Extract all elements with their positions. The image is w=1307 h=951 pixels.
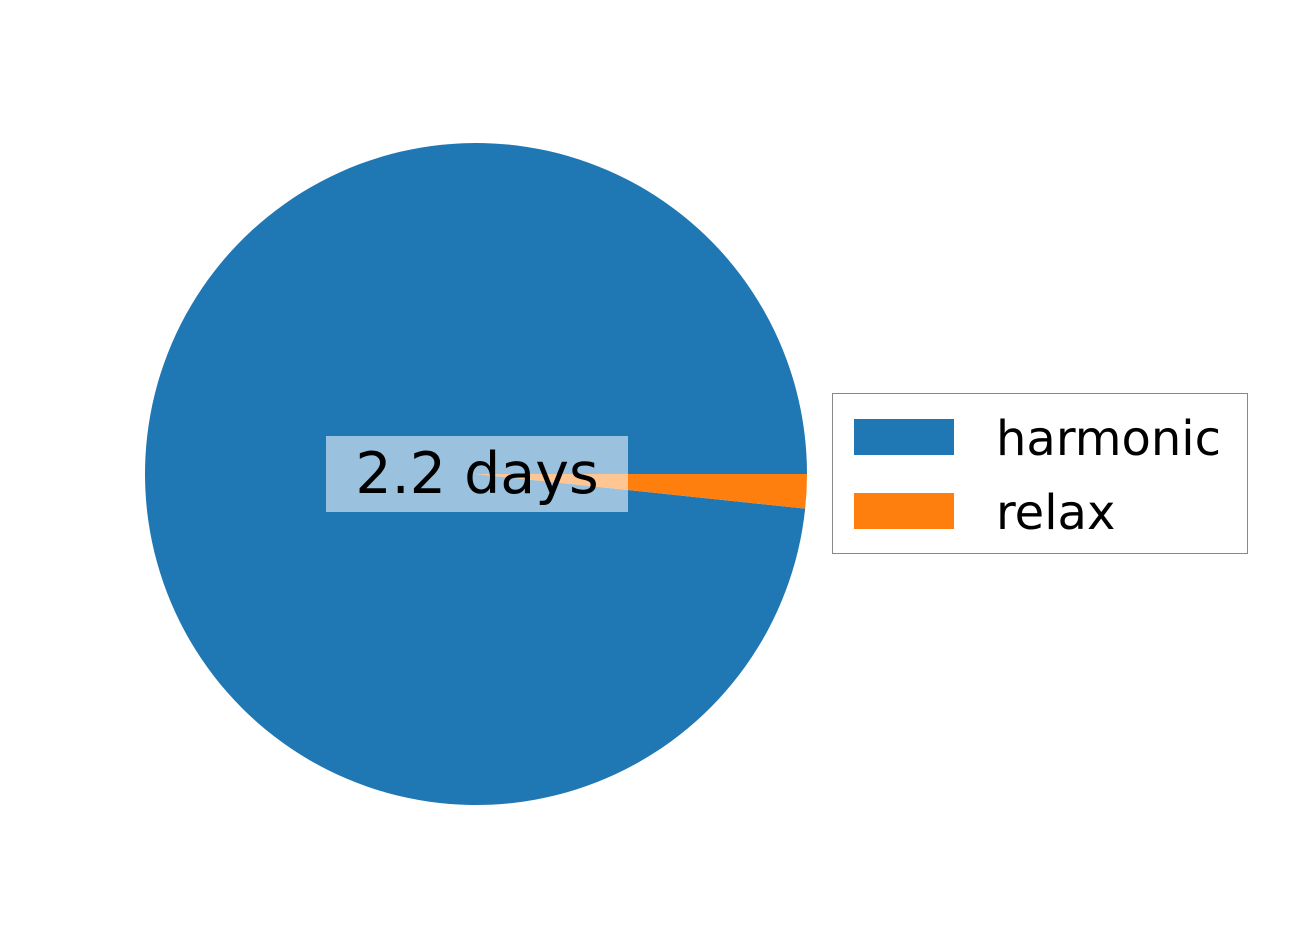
legend-item-harmonic[interactable]: harmonic [833, 409, 1247, 475]
legend-label-harmonic: harmonic [996, 409, 1221, 475]
legend-swatch-harmonic [854, 419, 954, 455]
pie-label-harmonic: 2.2 days [326, 436, 628, 512]
matplotlib-figure: 2.2 days harmonic relax [0, 0, 1307, 951]
legend-item-relax[interactable]: relax [833, 483, 1247, 549]
chart-legend: harmonic relax [832, 393, 1248, 554]
legend-swatch-relax [854, 493, 954, 529]
legend-label-relax: relax [996, 483, 1115, 549]
